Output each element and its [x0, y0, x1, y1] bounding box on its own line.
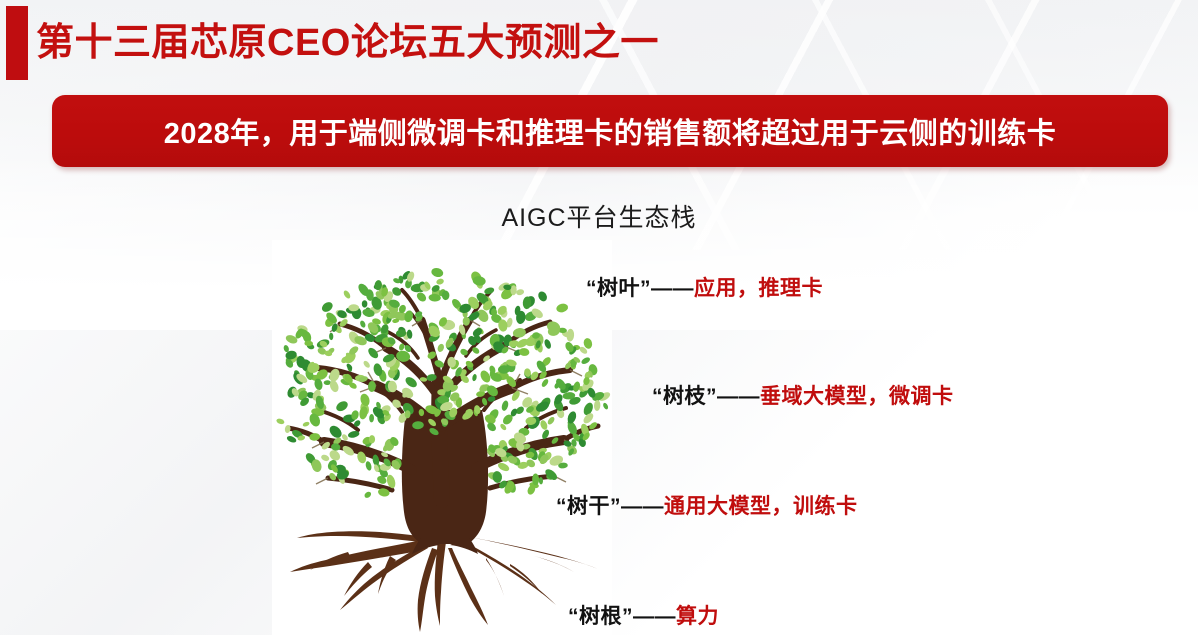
annotation-branch-desc: 垂域大模型，微调卡 [760, 385, 954, 408]
title-accent-bar [6, 6, 28, 80]
annotation-leaf-dash: —— [651, 277, 694, 300]
annotation-root-desc: 算力 [676, 605, 719, 628]
diagram-subtitle: AIGC平台生态栈 [0, 198, 1198, 234]
annotation-trunk: “树干”——通用大模型，训练卡 [556, 490, 858, 520]
leaf [362, 300, 368, 307]
annotation-leaf: “树叶”——应用，推理卡 [586, 272, 823, 302]
annotation-branch-term: “树枝” [652, 385, 717, 408]
annotation-root-term: “树根” [568, 605, 633, 628]
tree-illustration-panel [272, 240, 612, 635]
annotation-root: “树根”——算力 [568, 600, 719, 630]
annotation-trunk-dash: —— [621, 495, 664, 518]
annotation-leaf-term: “树叶” [586, 277, 651, 300]
annotation-trunk-term: “树干” [556, 495, 621, 518]
annotation-branch: “树枝”——垂域大模型，微调卡 [652, 380, 954, 410]
tree-illustration [272, 240, 612, 635]
annotation-branch-dash: —— [717, 385, 760, 408]
annotation-trunk-desc: 通用大模型，训练卡 [664, 495, 858, 518]
page-title: 第十三届芯原CEO论坛五大预测之一 [36, 10, 659, 76]
slide-header: 第十三届芯原CEO论坛五大预测之一 [0, 0, 1198, 88]
annotation-root-dash: —— [633, 605, 676, 628]
headline-banner: 2028年，用于端侧微调卡和推理卡的销售额将超过用于云侧的训练卡 [52, 95, 1168, 167]
headline-text: 2028年，用于端侧微调卡和推理卡的销售额将超过用于云侧的训练卡 [164, 110, 1057, 152]
annotation-leaf-desc: 应用，推理卡 [694, 277, 823, 300]
